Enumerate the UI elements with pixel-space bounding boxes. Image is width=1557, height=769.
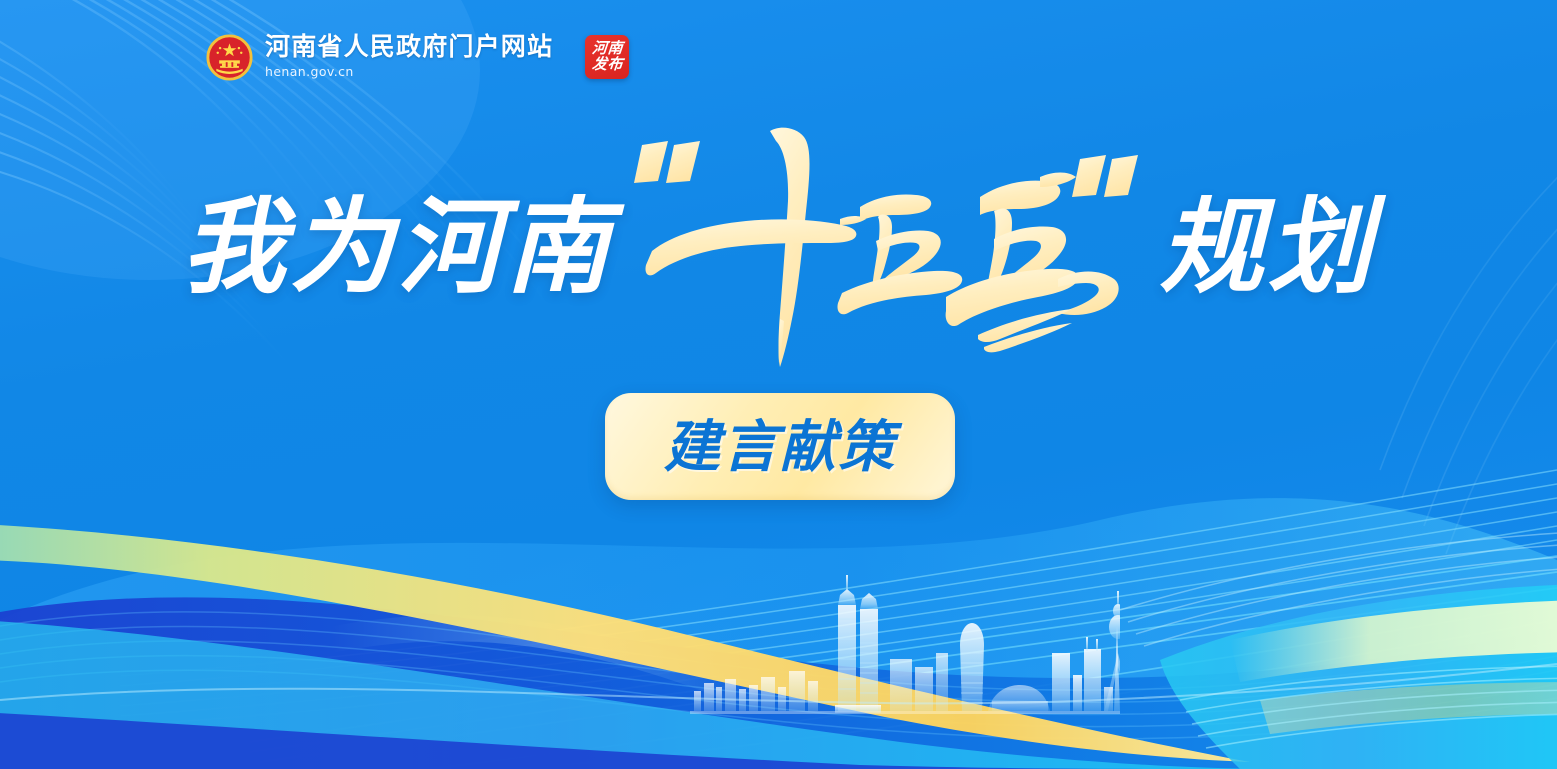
headline-right-text: 规划	[1160, 196, 1376, 300]
city-skyline-icon	[690, 567, 1120, 717]
top-left-arcs-icon	[0, 0, 1557, 769]
wave-ribbons-icon	[0, 0, 1557, 769]
site-header[interactable]: 河南省人民政府门户网站 henan.gov.cn 河南 发布	[206, 26, 629, 88]
site-url: henan.gov.cn	[265, 66, 553, 79]
headline-left-text: 我为河南	[181, 196, 613, 300]
headline: 我为河南	[0, 118, 1557, 378]
badge-line-2: 发布	[591, 57, 623, 73]
suggestion-cta-button[interactable]: 建言献策	[605, 393, 955, 500]
cta-label: 建言献策	[664, 419, 896, 475]
background-decoration	[0, 0, 1557, 769]
henan-release-badge[interactable]: 河南 发布	[585, 35, 629, 79]
national-emblem-icon	[206, 34, 253, 81]
calligraphy-shiwuwu-icon	[628, 123, 1148, 373]
zhengzhou-skyline	[690, 567, 1120, 717]
banner-root: 河南省人民政府门户网站 henan.gov.cn 河南 发布 我为河南	[0, 0, 1557, 769]
calligraphy-block	[628, 123, 1148, 373]
site-name: 河南省人民政府门户网站	[265, 35, 553, 60]
site-identity: 河南省人民政府门户网站 henan.gov.cn	[265, 35, 553, 79]
